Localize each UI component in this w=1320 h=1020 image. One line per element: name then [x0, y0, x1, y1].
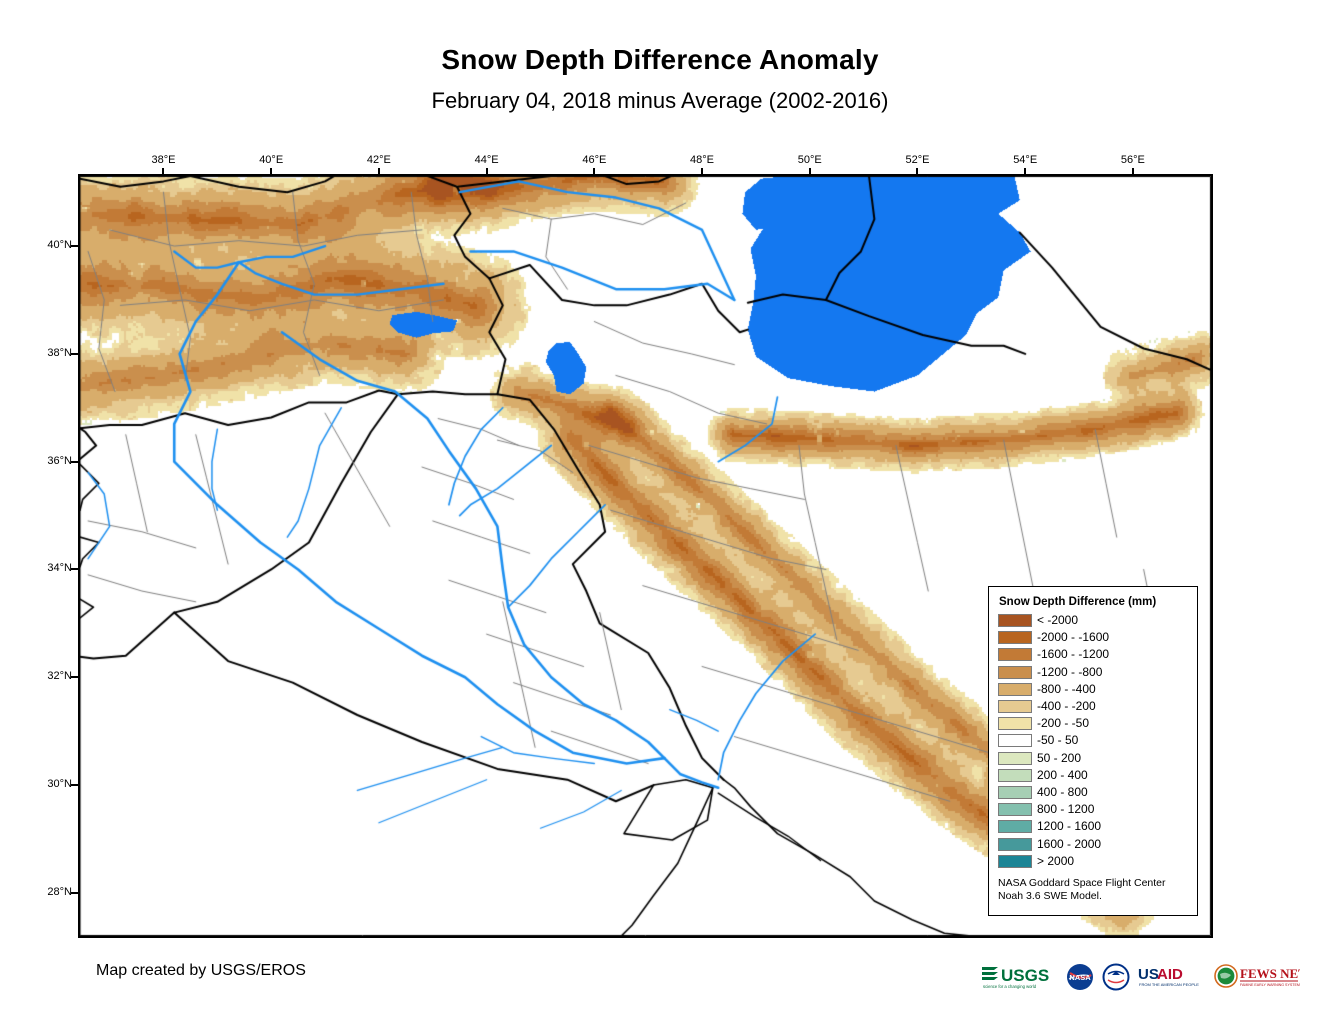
svg-text:FROM THE AMERICAN PEOPLE: FROM THE AMERICAN PEOPLE — [1139, 982, 1199, 987]
legend-color-swatch — [998, 734, 1032, 747]
latitude-tick-mark — [71, 353, 78, 355]
usgs-logo: USGS science for a changing world — [980, 960, 1058, 994]
agency-logo-strip: USGS science for a changing world NASA — [980, 958, 1242, 996]
legend-class-label: 1200 - 1600 — [1037, 820, 1101, 833]
latitude-tick-label: 40°N — [12, 239, 72, 251]
latitude-tick-label: 36°N — [12, 455, 72, 467]
legend-class-label: 800 - 1200 — [1037, 803, 1094, 816]
legend-class-row: -1600 - -1200 — [998, 646, 1188, 663]
legend-class-row: -2000 - -1600 — [998, 629, 1188, 646]
legend-color-swatch — [998, 786, 1032, 799]
legend-class-list: < -2000-2000 - -1600-1600 - -1200-1200 -… — [998, 612, 1188, 870]
latitude-tick-mark — [71, 892, 78, 894]
legend-class-label: 1600 - 2000 — [1037, 838, 1101, 851]
legend-class-label: -800 - -400 — [1037, 683, 1096, 696]
longitude-tick-label: 40°E — [241, 154, 301, 166]
longitude-tick-label: 38°E — [133, 154, 193, 166]
svg-text:FEWS NET: FEWS NET — [1240, 966, 1300, 981]
svg-text:AID: AID — [1157, 966, 1183, 983]
legend-class-label: 400 - 800 — [1037, 786, 1088, 799]
legend-class-row: -200 - -50 — [998, 715, 1188, 732]
legend-panel: Snow Depth Difference (mm) < -2000-2000 … — [988, 586, 1198, 916]
legend-class-label: -1600 - -1200 — [1037, 648, 1109, 661]
longitude-tick-label: 50°E — [780, 154, 840, 166]
svg-text:USGS: USGS — [1001, 966, 1049, 985]
legend-color-swatch — [998, 648, 1032, 661]
legend-class-label: -2000 - -1600 — [1037, 631, 1109, 644]
legend-class-row: -50 - 50 — [998, 732, 1188, 749]
legend-class-row: 50 - 200 — [998, 750, 1188, 767]
legend-color-swatch — [998, 717, 1032, 730]
longitude-tick-label: 48°E — [672, 154, 732, 166]
legend-title: Snow Depth Difference (mm) — [999, 596, 1188, 608]
latitude-tick-label: 28°N — [12, 886, 72, 898]
latitude-tick-mark — [71, 461, 78, 463]
legend-class-row: > 2000 — [998, 853, 1188, 870]
legend-color-swatch — [998, 666, 1032, 679]
legend-color-swatch — [998, 803, 1032, 816]
legend-class-label: -50 - 50 — [1037, 734, 1078, 747]
latitude-tick-mark — [71, 784, 78, 786]
legend-class-row: -800 - -400 — [998, 681, 1188, 698]
legend-color-swatch — [998, 631, 1032, 644]
svg-text:FAMINE EARLY WARNING SYSTEMS N: FAMINE EARLY WARNING SYSTEMS NETWORK — [1240, 983, 1300, 987]
legend-color-swatch — [998, 614, 1032, 627]
longitude-tick-label: 44°E — [457, 154, 517, 166]
legend-color-swatch — [998, 769, 1032, 782]
legend-note-line-2: Noah 3.6 SWE Model. — [998, 890, 1188, 903]
legend-class-row: 200 - 400 — [998, 767, 1188, 784]
longitude-tick-label: 52°E — [887, 154, 947, 166]
page-title: Snow Depth Difference Anomaly — [0, 44, 1320, 76]
noaa-logo — [1102, 960, 1130, 994]
svg-text:NASA: NASA — [1069, 973, 1091, 982]
legend-color-swatch — [998, 700, 1032, 713]
svg-text:US: US — [1138, 966, 1159, 983]
latitude-tick-label: 32°N — [12, 670, 72, 682]
legend-class-label: 200 - 400 — [1037, 769, 1088, 782]
latitude-tick-label: 34°N — [12, 562, 72, 574]
legend-class-row: -1200 - -800 — [998, 664, 1188, 681]
latitude-tick-mark — [71, 568, 78, 570]
legend-color-swatch — [998, 838, 1032, 851]
latitude-tick-label: 30°N — [12, 778, 72, 790]
longitude-tick-label: 46°E — [564, 154, 624, 166]
legend-color-swatch — [998, 752, 1032, 765]
legend-color-swatch — [998, 820, 1032, 833]
legend-note-line-1: NASA Goddard Space Flight Center — [998, 877, 1188, 890]
latitude-tick-mark — [71, 676, 78, 678]
legend-class-label: -1200 - -800 — [1037, 666, 1102, 679]
legend-class-row: -400 - -200 — [998, 698, 1188, 715]
legend-class-row: 1600 - 2000 — [998, 835, 1188, 852]
legend-class-row: 800 - 1200 — [998, 801, 1188, 818]
map-credit: Map created by USGS/EROS — [96, 962, 306, 980]
latitude-tick-label: 38°N — [12, 347, 72, 359]
svg-text:science for a changing world: science for a changing world — [983, 984, 1037, 989]
longitude-tick-label: 54°E — [995, 154, 1055, 166]
nasa-logo: NASA — [1065, 960, 1095, 994]
usaid-logo: US AID FROM THE AMERICAN PEOPLE — [1137, 960, 1207, 994]
legend-class-label: -400 - -200 — [1037, 700, 1096, 713]
legend-class-label: -200 - -50 — [1037, 717, 1089, 730]
legend-class-row: < -2000 — [998, 612, 1188, 629]
latitude-tick-mark — [71, 245, 78, 247]
page-subtitle: February 04, 2018 minus Average (2002-20… — [0, 88, 1320, 114]
longitude-tick-label: 56°E — [1103, 154, 1163, 166]
legend-class-label: > 2000 — [1037, 855, 1074, 868]
legend-class-label: < -2000 — [1037, 614, 1078, 627]
legend-class-row: 400 - 800 — [998, 784, 1188, 801]
fewsnet-logo: FEWS NET FAMINE EARLY WARNING SYSTEMS NE… — [1214, 960, 1300, 994]
legend-color-swatch — [998, 855, 1032, 868]
legend-class-row: 1200 - 1600 — [998, 818, 1188, 835]
map-page: Snow Depth Difference Anomaly February 0… — [0, 0, 1320, 1020]
legend-class-label: 50 - 200 — [1037, 752, 1081, 765]
legend-color-swatch — [998, 683, 1032, 696]
longitude-tick-label: 42°E — [349, 154, 409, 166]
